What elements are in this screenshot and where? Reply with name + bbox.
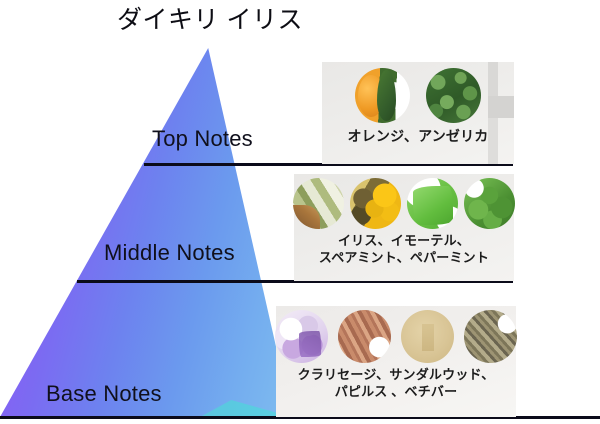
immortelle-flower-icon (350, 178, 401, 229)
base-notes-caption: クラリセージ、サンダルウッド、 パピルス 、ベチバー (276, 366, 516, 400)
tier-label-base-notes: Base Notes (46, 381, 162, 407)
tier-label-top-notes: Top Notes (152, 126, 253, 152)
top-notes-ingredient-circles (322, 68, 514, 123)
caption-line: イリス、イモーテル、 (294, 232, 514, 249)
vetiver-roots-icon (464, 310, 517, 363)
fragrance-pyramid-slide: ダイキリ イリス Top Notes Middle Notes Base Not… (0, 0, 600, 424)
caption-line: パピルス 、ベチバー (276, 383, 516, 400)
pyramid-shape (0, 48, 292, 417)
angelica-leaves-icon (426, 68, 481, 123)
page-title: ダイキリ イリス (0, 4, 420, 36)
card-edge-sliver-1 (488, 62, 498, 96)
spearmint-leaf-icon (407, 178, 458, 229)
sandalwood-chips-icon (338, 310, 391, 363)
caption-line: クラリセージ、サンダルウッド、 (276, 366, 516, 383)
orange-fruit-icon (355, 68, 410, 123)
pyramid-graphic (0, 48, 292, 417)
papyrus-icon (401, 310, 454, 363)
base-notes-ingredient-circles (276, 310, 516, 363)
middle-notes-ingredient-circles (294, 178, 514, 229)
top-notes-caption: オレンジ、アンゼリカ (322, 128, 514, 145)
card-edge-sliver-2 (488, 96, 514, 118)
caption-line: スペアミント、ペパーミント (294, 249, 514, 266)
middle-notes-caption: イリス、イモーテル、 スペアミント、ペパーミント (294, 232, 514, 266)
middle-notes-card: イリス、イモーテル、 スペアミント、ペパーミント (294, 174, 514, 281)
base-notes-card: クラリセージ、サンダルウッド、 パピルス 、ベチバー (276, 306, 516, 417)
iris-root-icon (293, 178, 344, 229)
tier-label-middle-notes: Middle Notes (104, 240, 235, 266)
peppermint-leaves-icon (464, 178, 515, 229)
clary-sage-flower-icon (275, 310, 328, 363)
top-notes-card: オレンジ、アンゼリカ (322, 62, 514, 164)
caption-line: オレンジ、アンゼリカ (322, 128, 514, 145)
card-edge-sliver-3 (488, 118, 498, 164)
